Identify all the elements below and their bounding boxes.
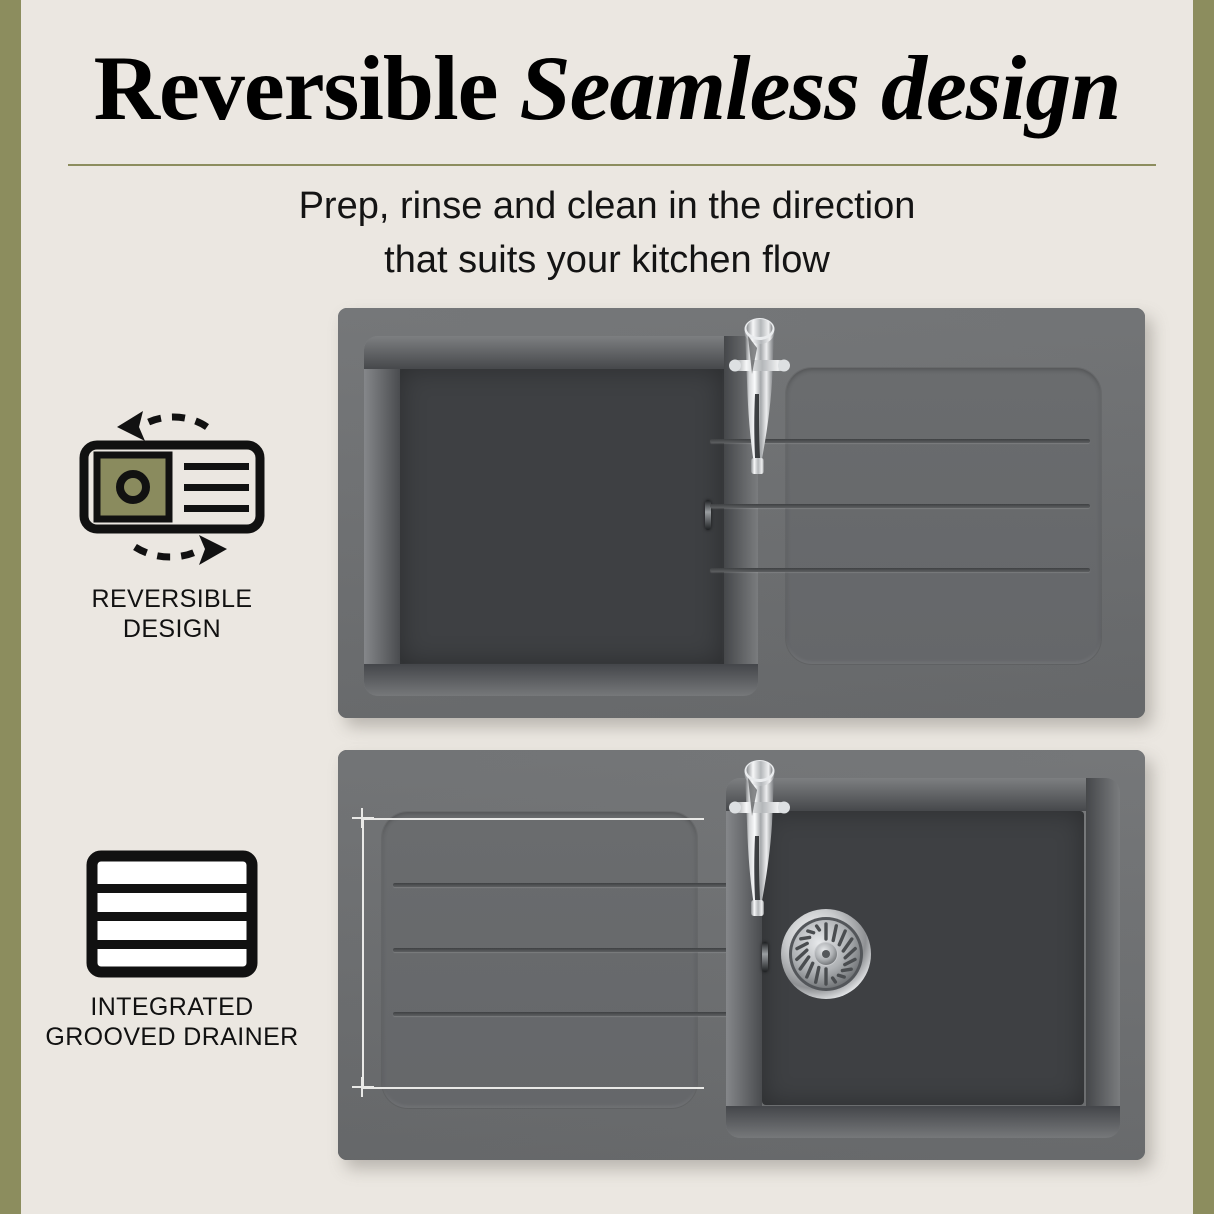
dimension-tick <box>361 808 363 828</box>
subtitle-line-2: that suits your kitchen flow <box>0 234 1214 288</box>
drainer-groove <box>710 568 1090 572</box>
feature-caption: REVERSIBLE DESIGN <box>42 584 302 644</box>
drainer-groove <box>393 1012 773 1016</box>
sink-bowl <box>364 336 758 696</box>
dimension-tick <box>361 1077 363 1097</box>
dimension-guide-top <box>362 818 704 820</box>
product-image-sink-right-hand-bowl <box>338 750 1145 1160</box>
subtitle-line-1: Prep, rinse and clean in the direction <box>0 180 1214 234</box>
sink-drainer-panel <box>786 368 1101 664</box>
feature-caption-line-1: INTEGRATED <box>42 992 302 1022</box>
dimension-guide-bottom <box>362 1087 704 1089</box>
grooved-drainer-icon <box>42 850 302 978</box>
title-italic-part: Seamless design <box>519 37 1120 139</box>
feature-caption-line-2: DESIGN <box>42 614 302 644</box>
product-image-sink-left-hand-bowl <box>338 308 1145 718</box>
page-title: Reversible Seamless design <box>0 42 1214 134</box>
feature-grooved-drainer: INTEGRATED GROOVED DRAINER <box>42 850 302 1052</box>
infographic-canvas: Reversible Seamless design Prep, rinse a… <box>0 0 1214 1214</box>
sink-drainer-panel <box>382 812 697 1108</box>
feature-reversible-design: REVERSIBLE DESIGN <box>42 405 302 644</box>
dimension-guide-vertical <box>362 818 364 1088</box>
feature-caption-line-1: REVERSIBLE <box>42 584 302 614</box>
feature-caption: INTEGRATED GROOVED DRAINER <box>42 992 302 1052</box>
dimension-tick <box>352 1086 374 1088</box>
reversible-sink-rotate-icon <box>42 405 302 570</box>
page-subtitle: Prep, rinse and clean in the direction t… <box>0 180 1214 288</box>
title-regular-part: Reversible <box>94 37 520 139</box>
title-divider-rule <box>68 164 1156 166</box>
feature-caption-line-2: GROOVED DRAINER <box>42 1022 302 1052</box>
faucet <box>714 308 804 508</box>
dimension-tick <box>352 817 374 819</box>
faucet <box>714 750 804 950</box>
